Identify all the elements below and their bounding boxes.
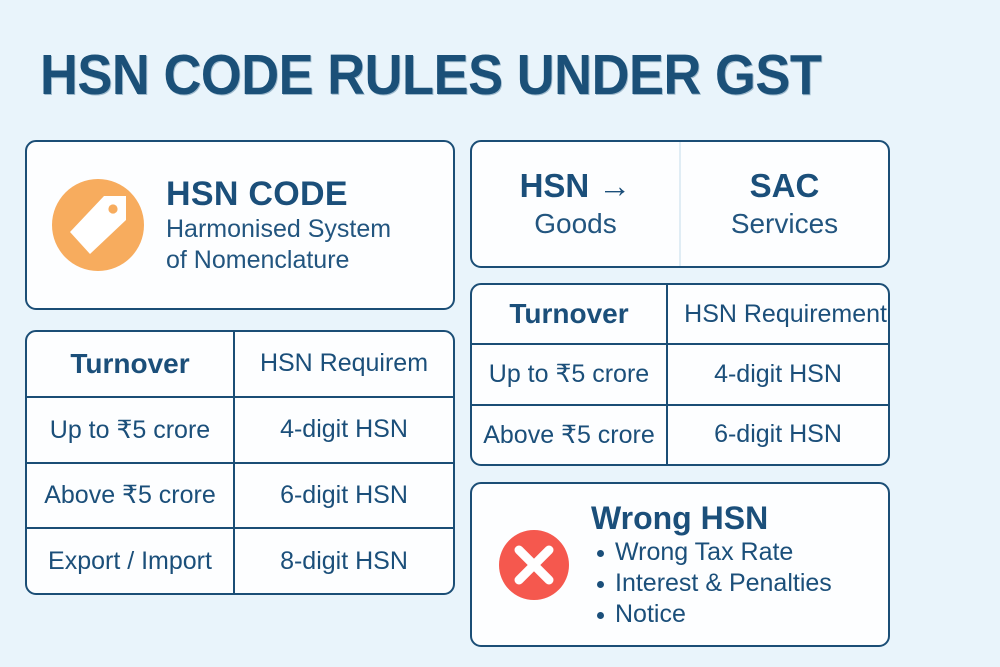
hsn-code-subtitle-line1: Harmonised System <box>166 214 391 245</box>
hsn-goods-half: HSN → Goods <box>472 142 681 266</box>
list-item: Interest & Penalties <box>591 568 832 599</box>
sac-services-half: SAC Services <box>681 142 888 266</box>
column-header-hsn-requirement: HSN Requirement <box>668 285 888 343</box>
list-item: Notice <box>591 599 832 630</box>
wrong-hsn-consequences-list: Wrong Tax Rate Interest & Penalties Noti… <box>591 537 832 630</box>
cell-hsn-requirement: 6-digit HSN <box>235 464 453 528</box>
hsn-description: Goods <box>534 207 617 241</box>
cell-turnover: Above ₹5 crore <box>27 464 235 528</box>
cell-hsn-requirement: 6-digit HSN <box>668 406 888 464</box>
hsn-code-text-block: HSN CODE Harmonised System of Nomenclatu… <box>166 174 391 276</box>
sac-term: SAC <box>750 167 820 205</box>
turnover-table-left: Turnover HSN Requirem Up to ₹5 crore 4-d… <box>25 330 455 595</box>
cell-turnover: Above ₹5 crore <box>472 406 668 464</box>
price-tag-glyph <box>68 194 128 256</box>
cell-turnover: Export / Import <box>27 529 235 593</box>
turnover-table-right: Turnover HSN Requirement Up to ₹5 crore … <box>470 283 890 466</box>
column-header-turnover: Turnover <box>27 332 235 396</box>
table-row: Above ₹5 crore 6-digit HSN <box>27 462 453 528</box>
table-row: Above ₹5 crore 6-digit HSN <box>472 404 888 464</box>
page-title: HSN CODE RULES UNDER GST <box>40 45 821 105</box>
table-header-row: Turnover HSN Requirement <box>472 285 888 343</box>
wrong-hsn-heading: Wrong HSN <box>591 500 832 536</box>
hsn-term: HSN → <box>520 167 632 205</box>
price-tag-icon <box>52 179 144 271</box>
wrong-hsn-card: Wrong HSN Wrong Tax Rate Interest & Pena… <box>470 482 890 647</box>
hsn-code-subtitle-line2: of Nomenclature <box>166 245 391 276</box>
hsn-code-card: HSN CODE Harmonised System of Nomenclatu… <box>25 140 455 310</box>
column-header-turnover: Turnover <box>472 285 668 343</box>
hsn-sac-card: HSN → Goods SAC Services <box>470 140 890 268</box>
x-circle-icon <box>499 530 569 600</box>
cell-turnover: Up to ₹5 crore <box>472 345 668 403</box>
cell-hsn-requirement: 4-digit HSN <box>235 398 453 462</box>
table-row: Up to ₹5 crore 4-digit HSN <box>27 396 453 462</box>
column-header-hsn-requirement: HSN Requirem <box>235 332 453 396</box>
table-row: Up to ₹5 crore 4-digit HSN <box>472 343 888 403</box>
cell-hsn-requirement: 4-digit HSN <box>668 345 888 403</box>
list-item: Wrong Tax Rate <box>591 537 832 568</box>
cell-hsn-requirement: 8-digit HSN <box>235 529 453 593</box>
sac-description: Services <box>731 207 838 241</box>
table-header-row: Turnover HSN Requirem <box>27 332 453 396</box>
x-mark-glyph <box>512 543 556 587</box>
cell-turnover: Up to ₹5 crore <box>27 398 235 462</box>
wrong-hsn-text-block: Wrong HSN Wrong Tax Rate Interest & Pena… <box>591 500 832 630</box>
hsn-code-heading: HSN CODE <box>166 174 391 214</box>
table-row: Export / Import 8-digit HSN <box>27 527 453 593</box>
